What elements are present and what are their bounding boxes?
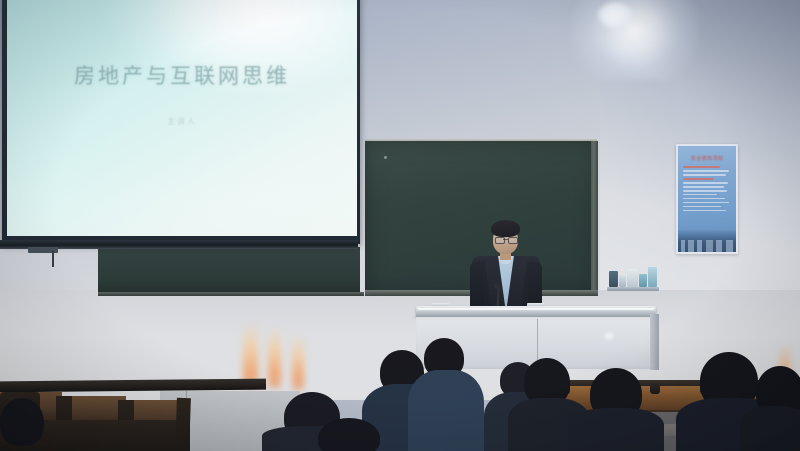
poster-line [683, 210, 726, 212]
shelf-item [639, 274, 647, 287]
glasses-bridge [503, 239, 508, 240]
desk-post [175, 398, 191, 451]
shelf-item [648, 267, 657, 287]
poster-body-text [683, 166, 731, 214]
chalkboard-left-ledge [98, 292, 364, 296]
audience-shoulders [408, 370, 484, 451]
poster-line [683, 190, 727, 192]
chalkboard-left [98, 247, 360, 296]
lecture-hall-photo: 安全使用须知 [0, 0, 800, 451]
poster-line [683, 206, 721, 208]
projection-screen-cord[interactable] [52, 251, 54, 267]
projection-screen-frame: 房地产与互联网思维 主讲人 [2, 0, 360, 244]
poster-line [683, 182, 728, 184]
chalkboard-speck [384, 156, 387, 159]
ceiling-light-glow [570, 0, 700, 80]
slide-title: 房地产与互联网思维 [7, 60, 357, 90]
audience-shoulders [568, 408, 664, 451]
poster-line [683, 178, 713, 180]
podium-rail-highlight [418, 308, 654, 310]
projection-screen-surface: 房地产与互联网思维 主讲人 [7, 0, 357, 236]
slide-subtitle: 主讲人 [7, 116, 357, 127]
poster-cityscape-image [678, 230, 736, 252]
poster-line [683, 166, 720, 168]
speaker-figure [470, 212, 542, 312]
ceiling-light-bulb [598, 2, 632, 28]
audience-head [0, 398, 44, 446]
shelf-item [619, 275, 626, 287]
wall-shelf [607, 261, 659, 291]
poster-line [683, 170, 729, 172]
poster-title: 安全使用须知 [678, 155, 736, 162]
podium-highlight [602, 330, 616, 342]
glasses-icon [508, 237, 518, 244]
poster-line [683, 202, 729, 204]
shelf-item [627, 269, 638, 287]
poster-line [683, 198, 725, 200]
poster-line [683, 174, 726, 176]
chalkboard-frame-right [591, 141, 598, 294]
desk-knob [650, 382, 660, 394]
poster-line [683, 194, 717, 196]
poster-line [683, 186, 724, 188]
poster-inner: 安全使用须知 [678, 146, 736, 252]
audience-shoulders [740, 406, 800, 451]
microphone-icon [494, 283, 500, 289]
audience-head [318, 418, 380, 451]
speaker-hair [491, 220, 520, 237]
wall-light-streak [292, 334, 304, 390]
shelf-plate [607, 287, 659, 291]
podium-side-panel [650, 314, 659, 370]
wall-light-streak [268, 326, 281, 388]
wall-poster: 安全使用须知 [676, 144, 738, 254]
shelf-item [609, 271, 618, 287]
